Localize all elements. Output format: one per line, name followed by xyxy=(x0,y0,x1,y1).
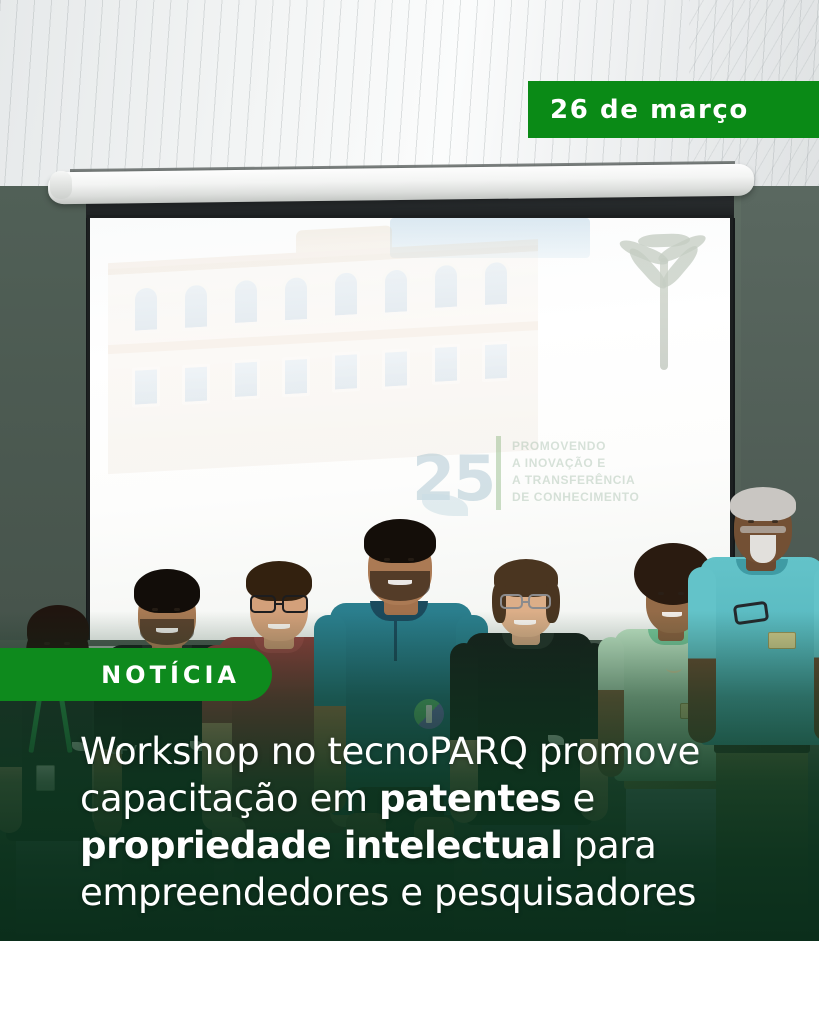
headline-line-2-a: capacitação em xyxy=(80,777,379,820)
category-badge-label: NOTÍCIA xyxy=(101,661,240,689)
headline-line-4: empreendedores e pesquisadores xyxy=(80,869,780,916)
headline-keyword-propriedade: propriedade intelectual xyxy=(80,824,563,867)
headline-keyword-patentes: patentes xyxy=(379,777,561,820)
date-badge: 26 de março xyxy=(528,81,819,138)
headline-line-3-text: para xyxy=(563,824,657,867)
headline-line-2-b: e xyxy=(561,777,595,820)
eyeglasses-icon xyxy=(500,594,523,609)
date-badge-label: 26 de março xyxy=(550,95,749,125)
news-card: 25 PROMOVENDO A INOVAÇÃO E A TRANSFERÊNC… xyxy=(0,0,819,1024)
goatee xyxy=(750,535,776,563)
category-badge: NOTÍCIA xyxy=(0,648,272,701)
headline-line-1: Workshop no tecnoPARQ promove xyxy=(80,728,780,775)
eyeglasses-icon xyxy=(528,594,551,609)
footer: WWW.CENTEV.UFV.BR tecnoPARQ Parque Tecno… xyxy=(0,941,819,1024)
headline-line-4-text: empreendedores e pesquisadores xyxy=(80,871,696,914)
headline-line-2: capacitação em patentes e xyxy=(80,775,780,822)
headline-line-3: propriedade intelectual para xyxy=(80,822,780,869)
headline: Workshop no tecnoPARQ promove capacitaçã… xyxy=(80,728,780,916)
headline-line-1-text: Workshop no tecnoPARQ promove xyxy=(80,730,700,773)
